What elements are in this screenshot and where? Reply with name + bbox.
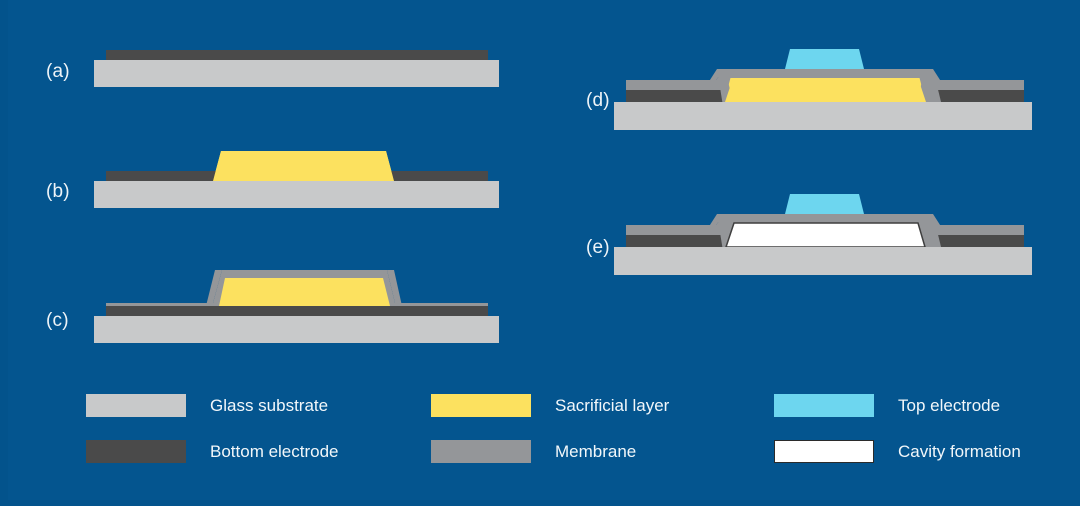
legend-label-membrane: Membrane: [555, 442, 636, 462]
legend-item-glass-substrate: Glass substrate: [86, 394, 328, 417]
glass-substrate-layer: [94, 316, 499, 343]
legend-swatch-top-electrode: [774, 394, 874, 417]
legend-swatch-glass-substrate: [86, 394, 186, 417]
legend: Glass substrate Bottom electrode Sacrifi…: [8, 380, 1080, 480]
legend-item-membrane: Membrane: [431, 440, 636, 463]
legend-swatch-sacrificial-layer: [431, 394, 531, 417]
bottom-electrode-layer: [106, 50, 488, 60]
panel-b-diagram: [8, 130, 528, 240]
cavity-formation-shape: [726, 223, 925, 247]
legend-label-sacrificial-layer: Sacrificial layer: [555, 396, 669, 416]
panel-label-b: (b): [46, 181, 70, 203]
top-electrode-shape: [785, 49, 864, 69]
panel-d: (d): [568, 20, 1068, 135]
figure-canvas: (a) (b) (c): [8, 0, 1080, 500]
glass-substrate-layer: [614, 247, 1032, 275]
membrane-roof: [725, 69, 925, 78]
legend-swatch-bottom-electrode: [86, 440, 186, 463]
legend-label-bottom-electrode: Bottom electrode: [210, 442, 339, 462]
legend-swatch-membrane: [431, 440, 531, 463]
legend-label-glass-substrate: Glass substrate: [210, 396, 328, 416]
membrane-flank-left: [106, 270, 222, 306]
panel-e: (e): [568, 165, 1068, 280]
bottom-electrode-layer: [106, 306, 488, 316]
panel-c-diagram: [8, 250, 528, 360]
glass-substrate-layer: [614, 102, 1032, 130]
panel-e-diagram: [568, 165, 1068, 280]
panel-a-diagram: [8, 0, 528, 120]
glass-substrate-layer: [94, 181, 499, 208]
panel-a: (a): [8, 0, 528, 120]
legend-item-top-electrode: Top electrode: [774, 394, 1000, 417]
top-electrode-shape: [785, 194, 864, 214]
legend-label-top-electrode: Top electrode: [898, 396, 1000, 416]
sacrificial-layer-shape: [219, 278, 390, 306]
sacrificial-layer-inner: [725, 78, 926, 102]
panel-c: (c): [8, 250, 528, 360]
membrane-roof: [725, 214, 925, 223]
legend-item-bottom-electrode: Bottom electrode: [86, 440, 339, 463]
panel-label-c: (c): [46, 310, 69, 332]
panel-label-d: (d): [586, 90, 610, 112]
panel-label-a: (a): [46, 61, 70, 83]
sacrificial-layer-overlap: [213, 151, 394, 181]
legend-item-sacrificial-layer: Sacrificial layer: [431, 394, 669, 417]
figure-root: (a) (b) (c): [0, 0, 1080, 506]
legend-swatch-cavity-formation: [774, 440, 874, 463]
panel-d-diagram: [568, 20, 1068, 135]
panel-b: (b): [8, 130, 528, 240]
legend-label-cavity-formation: Cavity formation: [898, 442, 1021, 462]
legend-item-cavity-formation: Cavity formation: [774, 440, 1021, 463]
panel-label-e: (e): [586, 237, 610, 259]
glass-substrate-layer: [94, 60, 499, 87]
membrane-flank-right: [387, 270, 488, 306]
